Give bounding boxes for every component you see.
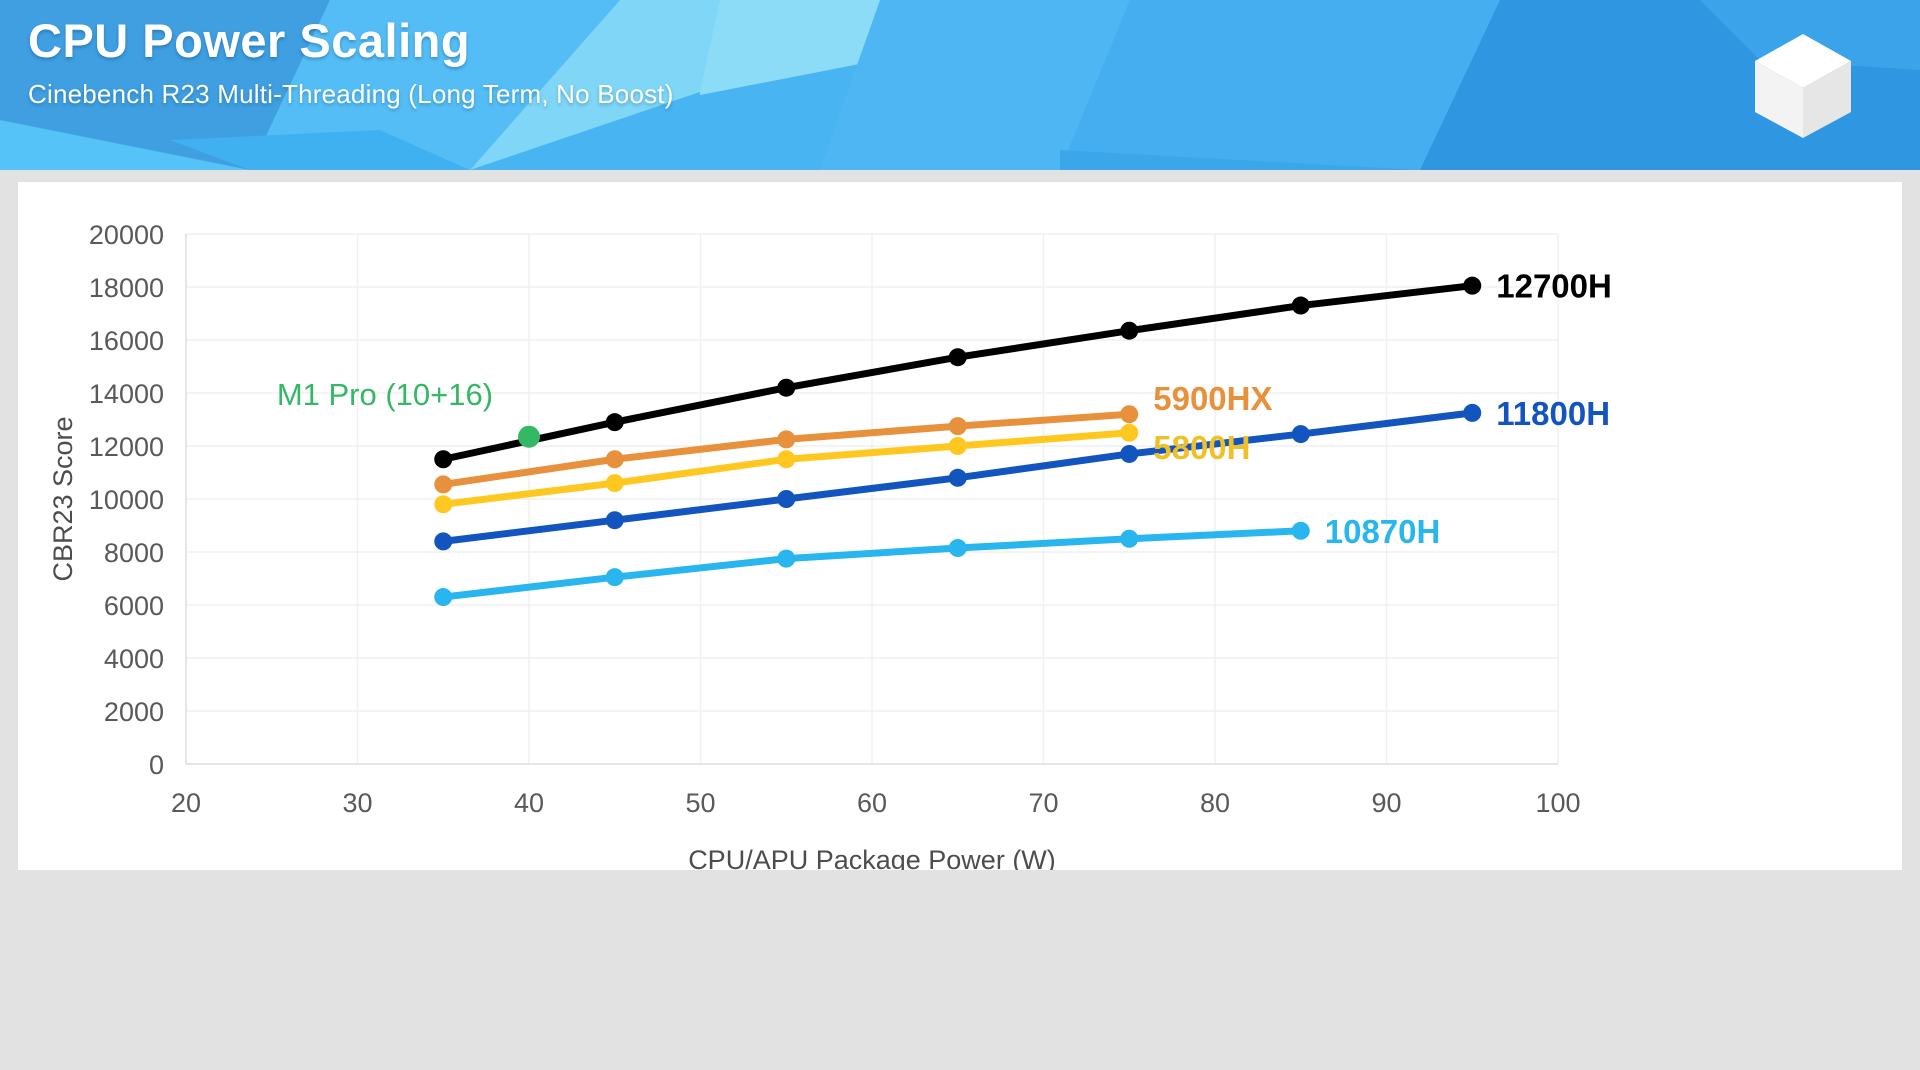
- svg-text:100: 100: [1535, 788, 1580, 818]
- data-point: [606, 474, 624, 492]
- series-label-12700H: 12700H: [1496, 268, 1612, 305]
- data-point: [777, 450, 795, 468]
- svg-text:8000: 8000: [104, 538, 164, 568]
- data-point: [1120, 322, 1138, 340]
- chart-card: 0200040006000800010000120001400016000180…: [18, 182, 1902, 870]
- data-point: [434, 495, 452, 513]
- svg-text:90: 90: [1371, 788, 1401, 818]
- data-point: [1463, 277, 1481, 295]
- chart-page: CPU Power Scaling Cinebench R23 Multi-Th…: [0, 0, 1920, 1070]
- svg-text:2000: 2000: [104, 697, 164, 727]
- data-point: [1463, 404, 1481, 422]
- data-point: [434, 475, 452, 493]
- cube-icon: [1738, 14, 1868, 144]
- page-header: CPU Power Scaling Cinebench R23 Multi-Th…: [0, 0, 1920, 170]
- svg-text:80: 80: [1200, 788, 1230, 818]
- line-chart: 0200040006000800010000120001400016000180…: [18, 182, 1902, 870]
- data-point: [777, 379, 795, 397]
- data-point: [434, 532, 452, 550]
- svg-text:10000: 10000: [89, 485, 164, 515]
- data-point: [949, 348, 967, 366]
- svg-text:70: 70: [1028, 788, 1058, 818]
- header-text-block: CPU Power Scaling Cinebench R23 Multi-Th…: [28, 14, 674, 110]
- svg-text:30: 30: [342, 788, 372, 818]
- series-label-11800H: 11800H: [1496, 395, 1610, 432]
- svg-text:40: 40: [514, 788, 544, 818]
- data-point: [1292, 297, 1310, 315]
- page-title: CPU Power Scaling: [28, 14, 674, 68]
- data-point: [1292, 522, 1310, 540]
- svg-text:14000: 14000: [89, 379, 164, 409]
- data-point: [949, 417, 967, 435]
- data-point: [1120, 530, 1138, 548]
- svg-text:18000: 18000: [89, 273, 164, 303]
- data-point: [949, 539, 967, 557]
- y-axis-title: CBR23 Score: [48, 416, 78, 581]
- svg-text:20: 20: [171, 788, 201, 818]
- data-point: [606, 413, 624, 431]
- page-subtitle: Cinebench R23 Multi-Threading (Long Term…: [28, 79, 674, 110]
- svg-text:6000: 6000: [104, 591, 164, 621]
- data-point: [606, 511, 624, 529]
- svg-text:12000: 12000: [89, 432, 164, 462]
- data-point: [434, 450, 452, 468]
- data-point: [606, 450, 624, 468]
- svg-text:4000: 4000: [104, 644, 164, 674]
- annotation-point: [518, 426, 540, 448]
- svg-text:0: 0: [149, 750, 164, 780]
- data-point: [949, 469, 967, 487]
- data-point: [1120, 405, 1138, 423]
- data-point: [1120, 424, 1138, 442]
- data-point: [1292, 425, 1310, 443]
- svg-text:20000: 20000: [89, 220, 164, 250]
- data-point: [777, 430, 795, 448]
- svg-text:60: 60: [857, 788, 887, 818]
- chart-background: [18, 182, 1902, 870]
- series-label-10870H: 10870H: [1325, 513, 1441, 550]
- data-point: [777, 550, 795, 568]
- data-point: [949, 437, 967, 455]
- data-point: [777, 490, 795, 508]
- data-point: [1120, 445, 1138, 463]
- x-axis-title: CPU/APU Package Power (W): [688, 845, 1056, 870]
- svg-text:50: 50: [685, 788, 715, 818]
- svg-text:16000: 16000: [89, 326, 164, 356]
- data-point: [606, 568, 624, 586]
- data-point: [434, 588, 452, 606]
- series-label-5900HX: 5900HX: [1153, 380, 1272, 417]
- series-label-5800H: 5800H: [1153, 429, 1250, 466]
- annotation-label: M1 Pro (10+16): [277, 377, 493, 412]
